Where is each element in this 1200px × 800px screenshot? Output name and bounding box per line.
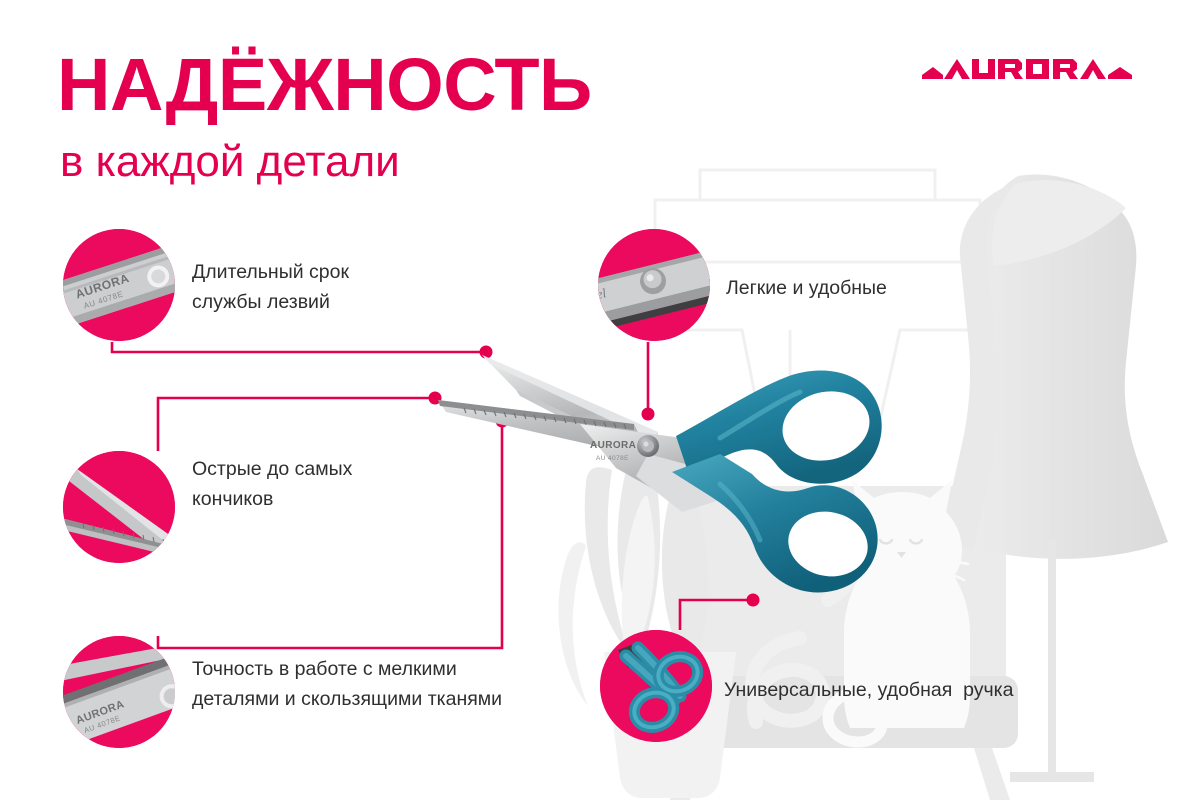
aurora-logo xyxy=(922,52,1132,90)
product-scissors: AURORA AU 4078E xyxy=(420,350,940,650)
blade-edge-icon: AURORA AU 4078E xyxy=(63,636,175,748)
pivot-screw xyxy=(637,435,659,457)
page-title: НАДЁЖНОСТЬ xyxy=(57,50,592,120)
callout-label-light-comfortable: Легкие и удобные xyxy=(726,274,986,304)
callout-label-precision: Точность в работе с мелкими деталями и с… xyxy=(192,655,572,714)
callout-label-universal-handle: Универсальные, удобная ручка xyxy=(724,676,1144,706)
blade-engraving-icon: AURORA AU 4078E xyxy=(63,229,175,341)
blade-engraving-brand: AURORA xyxy=(590,440,636,451)
pivot-screw-icon: el xyxy=(598,229,710,341)
sharp-blade-tips-icon xyxy=(63,451,175,563)
blade-engraving-model: AU 4078E xyxy=(596,455,629,462)
page-subtitle: в каждой детали xyxy=(60,139,400,185)
callout-label-blade-life: Длительный срок службы лезвий xyxy=(192,258,432,317)
infographic-canvas: НАДЁЖНОСТЬ в каждой детали xyxy=(0,0,1200,800)
callout-label-sharp-tips: Острые до самых кончиков xyxy=(192,455,432,514)
scissors-icon xyxy=(600,630,712,742)
